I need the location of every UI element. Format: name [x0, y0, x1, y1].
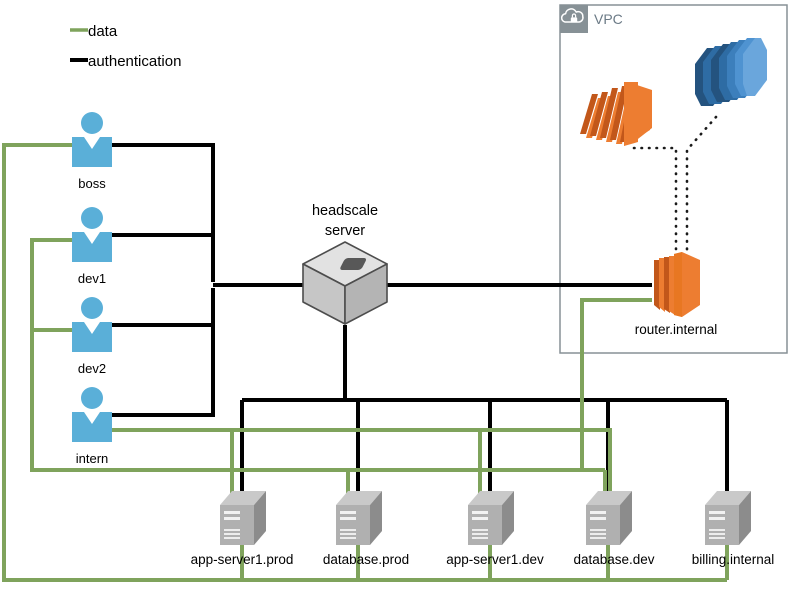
server-label-app-server1-dev: app-server1.dev [446, 552, 544, 567]
headscale-label-line2: server [325, 223, 365, 239]
headscale-server-node[interactable]: headscale server [303, 203, 387, 324]
server-node-database-dev[interactable]: database.dev [573, 491, 654, 567]
legend-label-data: data [88, 23, 118, 40]
auth-link-boss [112, 145, 213, 282]
user-label-dev2: dev2 [78, 361, 106, 376]
legend-label-authentication: authentication [88, 53, 181, 70]
server-node-database-prod[interactable]: database.prod [323, 491, 409, 567]
server-icon [220, 491, 266, 545]
server-icon [705, 491, 751, 545]
user-label-intern: intern [76, 451, 109, 466]
server-node-app-server1-prod[interactable]: app-server1.prod [191, 491, 294, 567]
user-icon [72, 112, 112, 167]
server-icon [468, 491, 514, 545]
server-node-billing-internal[interactable]: billing.internal [692, 491, 775, 567]
user-node-dev1[interactable]: dev1 [72, 207, 112, 286]
user-node-intern[interactable]: intern [72, 387, 112, 466]
server-label-app-server1-prod: app-server1.prod [191, 552, 294, 567]
user-icon [72, 297, 112, 352]
server-label-database-prod: database.prod [323, 552, 409, 567]
auth-link-intern [112, 288, 213, 415]
user-node-dev2[interactable]: dev2 [72, 297, 112, 376]
network-diagram-canvas: data authentication VPC [0, 0, 792, 593]
user-label-dev1: dev1 [78, 271, 106, 286]
server-nodes: app-server1.prod database.prod app-serve… [191, 491, 775, 567]
headscale-label-line1: headscale [312, 203, 378, 219]
vpc-label: VPC [594, 11, 623, 27]
user-icon [72, 207, 112, 262]
data-link-intern [112, 430, 610, 495]
user-nodes: boss dev1 dev2 intern [72, 112, 112, 466]
server-icon [586, 491, 632, 545]
server-label-billing-internal: billing.internal [692, 552, 775, 567]
user-icon [72, 387, 112, 442]
cube-icon [303, 242, 387, 324]
topology-svg: data authentication VPC [0, 0, 792, 593]
server-label-database-dev: database.dev [573, 552, 654, 567]
server-icon [336, 491, 382, 545]
user-node-boss[interactable]: boss [72, 112, 112, 191]
server-node-app-server1-dev[interactable]: app-server1.dev [446, 491, 544, 567]
router-internal-label: router.internal [635, 322, 718, 337]
user-label-boss: boss [78, 176, 106, 191]
legend: data authentication [70, 23, 181, 70]
router-internal-icon [654, 252, 700, 317]
